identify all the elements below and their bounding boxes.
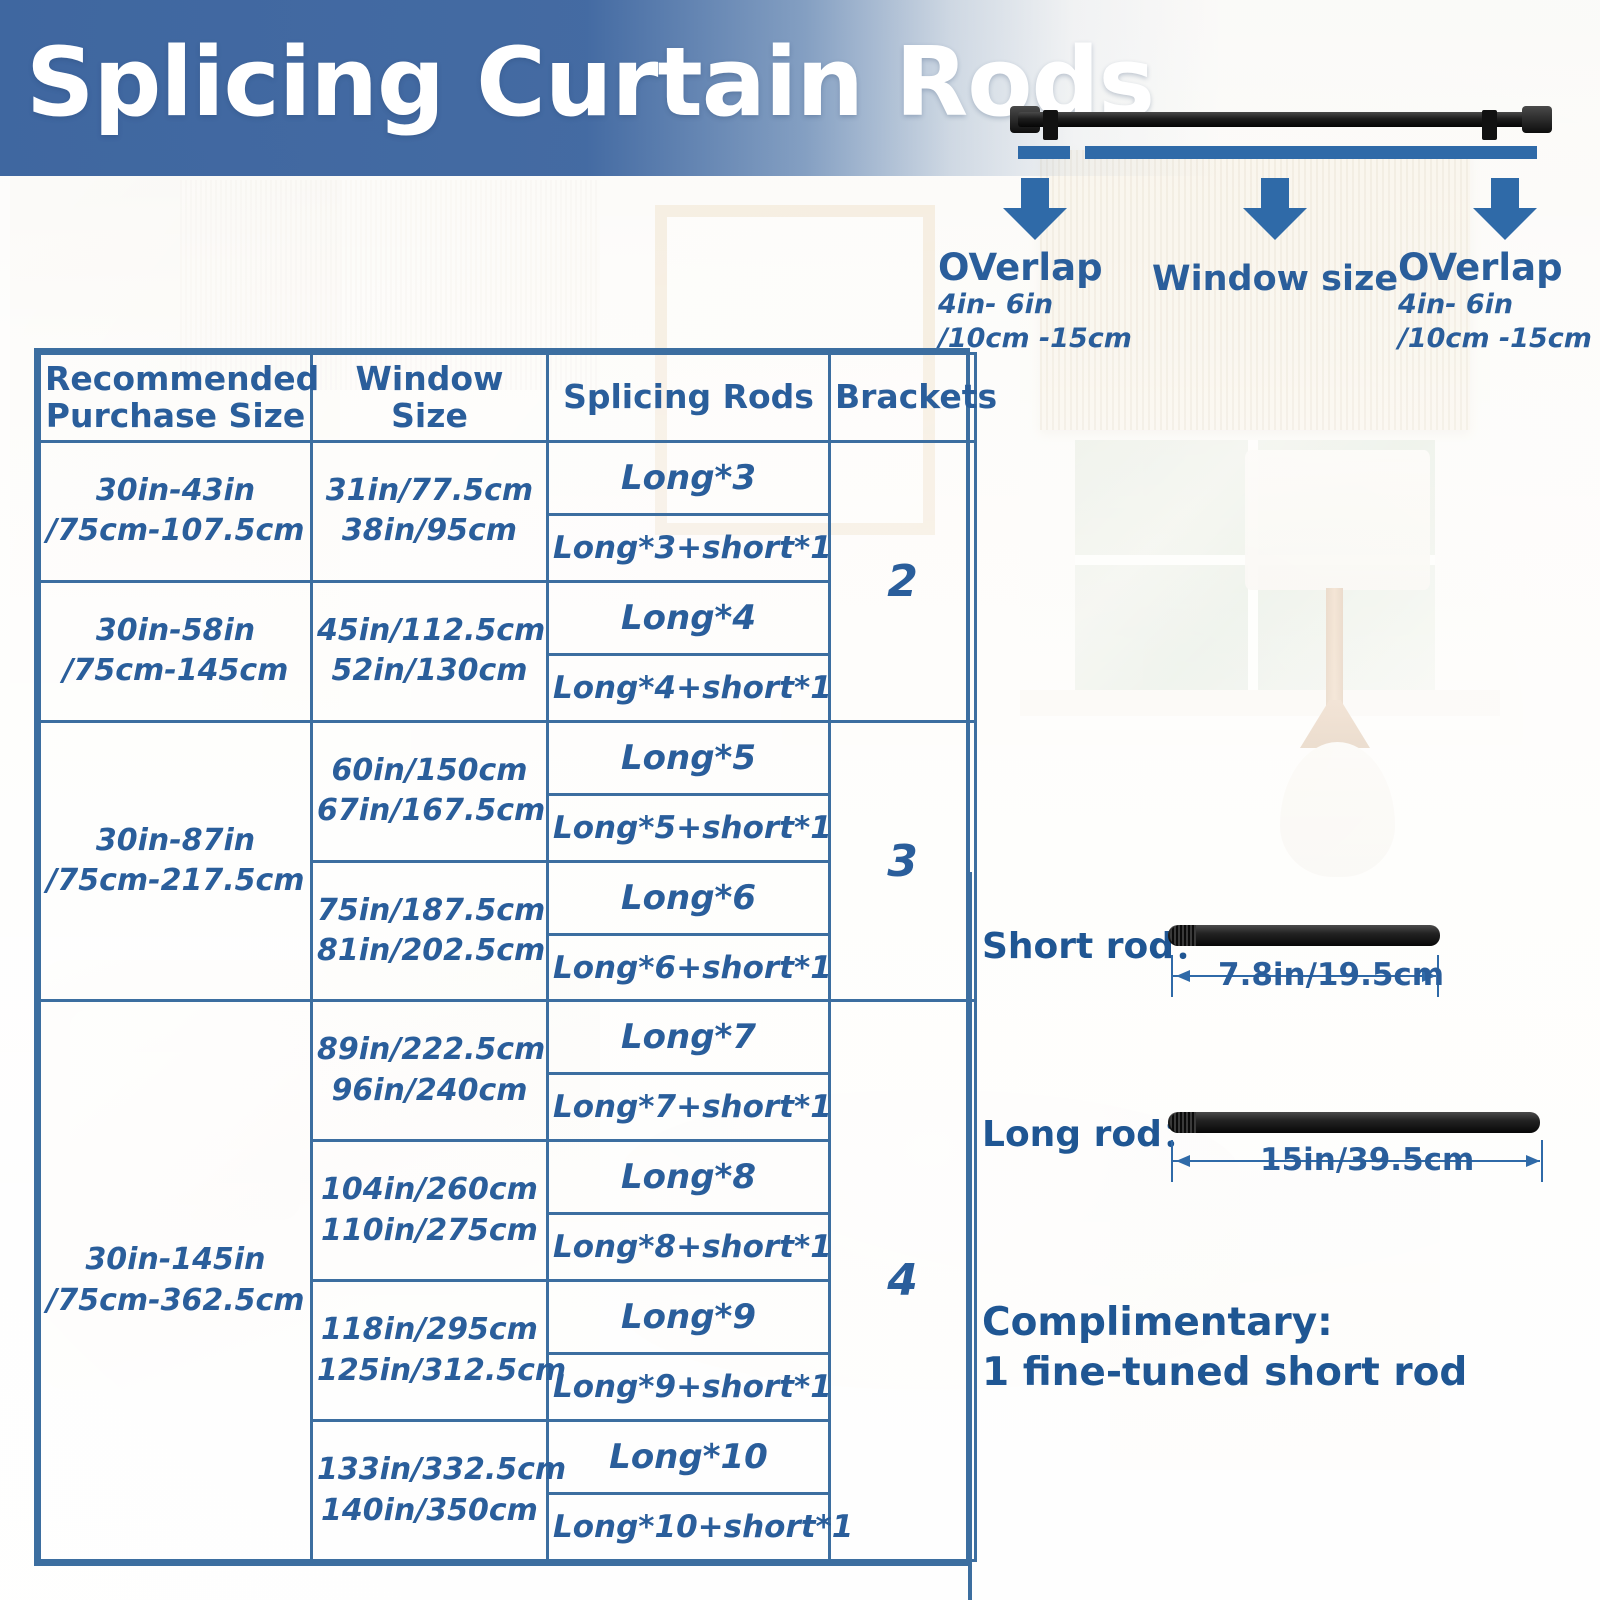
complimentary-note: Complimentary: 1 fine-tuned short rod	[982, 1298, 1467, 1398]
cell-splicing-rods: Long*9+short*1	[548, 1354, 830, 1421]
table-header-row: Recommended Purchase Size Window Size Sp…	[40, 354, 976, 442]
measure-bar-window	[1085, 146, 1497, 159]
overlap-right-sub-line2: /10cm -15cm	[1398, 322, 1592, 356]
cell-splicing-rods: Long*7+short*1	[548, 1074, 830, 1141]
arrow-down-icon-window	[1243, 178, 1307, 240]
header-purchase-line1: Recommended	[45, 359, 319, 398]
measure-bar-overlap-left	[1018, 146, 1070, 159]
column-header-purchase-size: Recommended Purchase Size	[40, 354, 312, 442]
table-row: 30in-43in/75cm-107.5cm31in/77.5cm38in/95…	[40, 442, 976, 515]
cell-brackets: 3	[830, 721, 976, 1001]
page-title: Splicing Curtain Rods	[26, 28, 1154, 138]
column-header-brackets: Brackets	[830, 354, 976, 442]
cell-purchase-size: 30in-58in/75cm-145cm	[40, 581, 312, 721]
cell-splicing-rods: Long*5	[548, 721, 830, 794]
overlap-left-sub: 4in- 6in /10cm -15cm	[938, 288, 1132, 356]
cell-splicing-rods: Long*6+short*1	[548, 934, 830, 1001]
long-rod-dimension: 15in/39.5cm	[1252, 1142, 1482, 1178]
cell-purchase-size: 30in-43in/75cm-107.5cm	[40, 442, 312, 582]
overlap-right-sub-line1: 4in- 6in	[1398, 288, 1592, 322]
cell-splicing-rods: Long*8	[548, 1141, 830, 1214]
table-row: 30in-145in/75cm-362.5cm89in/222.5cm96in/…	[40, 1001, 976, 1074]
cell-splicing-rods: Long*3	[548, 442, 830, 515]
cell-window-size: 45in/112.5cm52in/130cm	[312, 581, 548, 721]
table-body: 30in-43in/75cm-107.5cm31in/77.5cm38in/95…	[40, 442, 976, 1561]
cell-window-size: 89in/222.5cm96in/240cm	[312, 1001, 548, 1141]
cell-splicing-rods: Long*8+short*1	[548, 1214, 830, 1281]
cell-window-size: 31in/77.5cm38in/95cm	[312, 442, 548, 582]
header-purchase-line2: Purchase Size	[46, 396, 305, 435]
cell-window-size: 133in/332.5cm140in/350cm	[312, 1421, 548, 1561]
cell-splicing-rods: Long*5+short*1	[548, 794, 830, 861]
window-size-label: Window size	[1152, 259, 1398, 299]
short-rod-image	[1168, 925, 1440, 946]
overlap-left-sub-line1: 4in- 6in	[938, 288, 1132, 322]
column-header-splicing-rods: Splicing Rods	[548, 354, 830, 442]
arrow-down-icon-overlap-right	[1473, 178, 1537, 240]
rod-bracket-left-icon	[1043, 110, 1058, 140]
cell-window-size: 60in/150cm67in/167.5cm	[312, 721, 548, 861]
cell-splicing-rods: Long*3+short*1	[548, 515, 830, 582]
long-rod-image	[1168, 1112, 1540, 1133]
complimentary-line2: 1 fine-tuned short rod	[982, 1348, 1467, 1398]
cell-purchase-size: 30in-145in/75cm-362.5cm	[40, 1001, 312, 1561]
table-row: 30in-87in/75cm-217.5cm60in/150cm67in/167…	[40, 721, 976, 794]
cell-splicing-rods: Long*10+short*1	[548, 1494, 830, 1561]
cell-splicing-rods: Long*10	[548, 1421, 830, 1494]
rod-bracket-right-icon	[1482, 110, 1497, 140]
installed-curtain-rod	[1018, 112, 1538, 127]
cell-splicing-rods: Long*9	[548, 1281, 830, 1354]
cell-brackets: 4	[830, 1001, 976, 1561]
cell-purchase-size: 30in-87in/75cm-217.5cm	[40, 721, 312, 1001]
cell-splicing-rods: Long*7	[548, 1001, 830, 1074]
long-rod-dim-tick-right	[1541, 1140, 1543, 1182]
long-rod-label: Long rod：	[982, 1105, 1198, 1157]
overlap-right-sub: 4in- 6in /10cm -15cm	[1398, 288, 1592, 356]
cell-splicing-rods: Long*4	[548, 581, 830, 654]
short-rod-dimension: 7.8in/19.5cm	[1210, 957, 1452, 993]
overlap-left-label: OVerlap	[938, 246, 1103, 289]
column-header-window-size: Window Size	[312, 354, 548, 442]
measure-bar-overlap-right	[1480, 146, 1537, 159]
rod-end-cap-right-icon	[1522, 106, 1552, 133]
cell-window-size: 104in/260cm110in/275cm	[312, 1141, 548, 1281]
infographic-page: Splicing Curtain Rods OVerlap 4in- 6in /…	[0, 0, 1600, 1600]
cell-splicing-rods: Long*4+short*1	[548, 654, 830, 721]
complimentary-line1: Complimentary:	[982, 1298, 1467, 1348]
cell-window-size: 118in/295cm125in/312.5cm	[312, 1281, 548, 1421]
cell-brackets: 2	[830, 442, 976, 722]
cell-window-size: 75in/187.5cm81in/202.5cm	[312, 861, 548, 1001]
arrow-down-icon-overlap-left	[1003, 178, 1067, 240]
cell-splicing-rods: Long*6	[548, 861, 830, 934]
sizing-table: Recommended Purchase Size Window Size Sp…	[34, 348, 970, 1566]
overlap-right-label: OVerlap	[1398, 246, 1563, 289]
